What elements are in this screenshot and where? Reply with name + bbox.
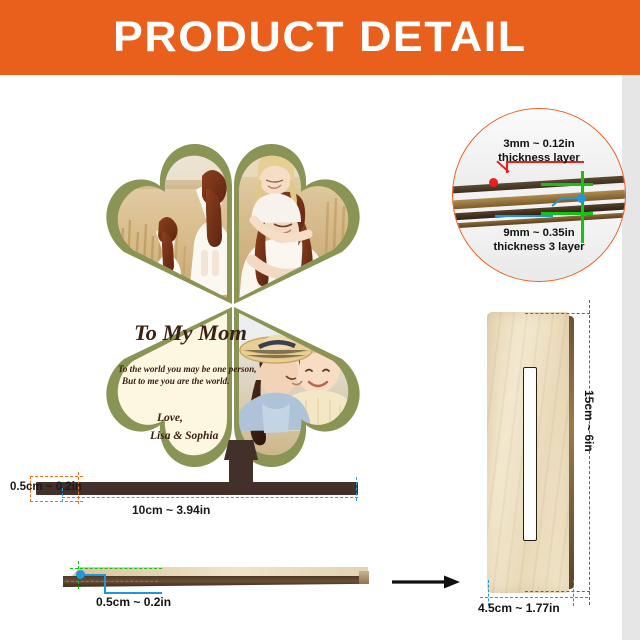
petal-top-right xyxy=(226,143,366,315)
plank-dim-bottom-dash xyxy=(66,581,158,582)
leader-blue-horizontal xyxy=(495,215,553,217)
stand-thickness-label: 0.5cm ~ 0.2in xyxy=(10,481,82,493)
base-width-dash xyxy=(480,597,588,598)
inset-top-label-line1: 3mm ~ 0.12in xyxy=(453,137,625,151)
plank-right-edge xyxy=(359,571,369,584)
base-height-label: 15cm ~ 6in xyxy=(582,390,596,452)
base-height-dash-vertical xyxy=(589,300,590,605)
leader-blue-dot xyxy=(577,194,586,203)
stand-width-tick-right xyxy=(356,477,357,501)
inset-top-label-line2: thickness layer xyxy=(453,151,625,165)
message-signoff: Love, xyxy=(156,412,183,424)
stand-width-tick-left xyxy=(62,488,63,502)
base-height-dash-top xyxy=(525,313,590,314)
message-signature: Lisa & Sophia xyxy=(149,430,219,442)
page-title: PRODUCT DETAIL xyxy=(113,16,527,59)
plank-leader-base xyxy=(104,592,162,594)
base-height-dash-bottom xyxy=(525,591,590,592)
stand-width-dim-line xyxy=(62,497,358,498)
plank-leader-dot xyxy=(76,570,85,579)
plank-thickness-label: 0.5cm ~ 0.2in xyxy=(96,595,171,609)
inset-bottom-label-line2: thickness 3 layer xyxy=(453,240,625,254)
petal-top-left xyxy=(106,143,241,310)
leader-red-dot xyxy=(489,178,498,187)
stand-base-bar xyxy=(36,482,358,495)
base-width-label: 4.5cm ~ 1.77in xyxy=(478,601,560,615)
clover-photo-frame: To My Mom To the world you may be one pe… xyxy=(56,128,406,483)
product-detail-page: PRODUCT DETAIL xyxy=(0,0,640,640)
stand-width-label: 10cm ~ 3.94in xyxy=(132,503,210,517)
assembly-arrow xyxy=(392,574,462,590)
stand-base-board xyxy=(487,312,575,593)
wooden-plank-side-view xyxy=(63,567,368,589)
plank-dim-top-dash xyxy=(70,568,162,569)
plywood-thickness-inset: 3mm ~ 0.12in thickness layer 9mm ~ 0.35i… xyxy=(452,108,626,282)
message-heading: To My Mom xyxy=(134,320,247,345)
plank-leader-drop xyxy=(104,574,106,594)
message-body-line2: But to me you are the world. xyxy=(121,376,229,386)
caliper-horizontal-top xyxy=(541,183,593,186)
base-board-edge xyxy=(569,316,574,589)
message-body-line1: To the world you may be one person, xyxy=(118,364,257,374)
base-board-slot xyxy=(523,367,537,541)
clover-svg: To My Mom To the world you may be one pe… xyxy=(56,128,406,483)
stand-post xyxy=(229,440,253,488)
inset-bottom-label-line1: 9mm ~ 0.35in xyxy=(453,226,625,240)
header-banner: PRODUCT DETAIL xyxy=(0,0,640,75)
base-width-tick-right xyxy=(573,580,574,606)
